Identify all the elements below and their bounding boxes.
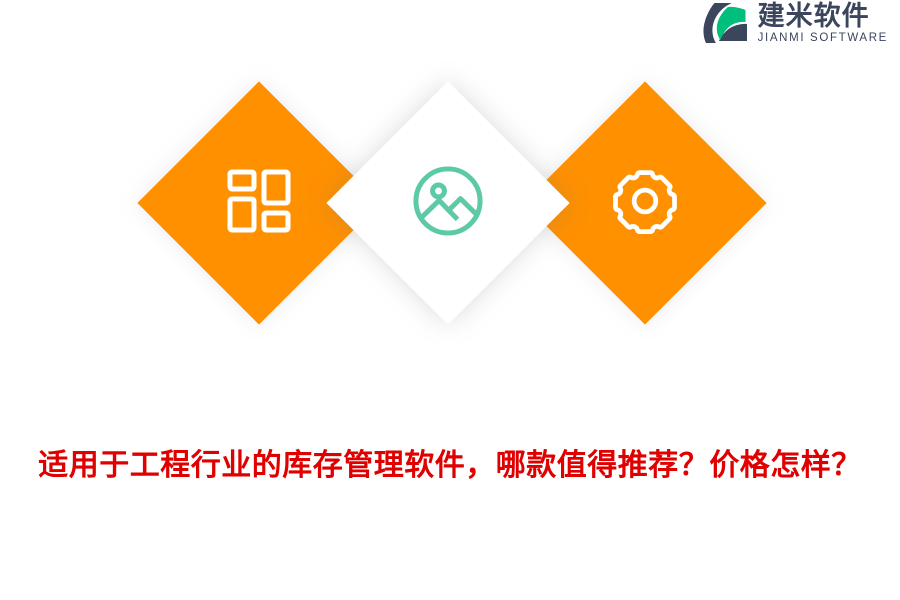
brand-logo-text: 建米软件 JIANMI SOFTWARE [758, 0, 888, 45]
brand-name-cn: 建米软件 [758, 1, 888, 31]
brand-name-en: JIANMI SOFTWARE [758, 31, 888, 45]
page-title: 适用于工程行业的库存管理软件，哪款值得推荐？价格怎样？ [0, 444, 900, 488]
jianmi-logo-mark-icon [702, 1, 750, 47]
hero-diamond-image[interactable] [326, 81, 569, 324]
header-logo-bar: 建米软件 JIANMI SOFTWARE [0, 0, 900, 56]
diamond-icon-wrapper [559, 117, 731, 289]
hero-diamond-cluster [0, 112, 900, 362]
diamond-icon-wrapper [173, 117, 345, 289]
diamond-icon-wrapper [362, 117, 534, 289]
grid-dashboard-icon [227, 169, 291, 238]
image-placeholder-icon [410, 163, 486, 244]
brand-logo[interactable]: 建米软件 JIANMI SOFTWARE [702, 0, 888, 47]
gear-settings-icon [612, 168, 678, 239]
